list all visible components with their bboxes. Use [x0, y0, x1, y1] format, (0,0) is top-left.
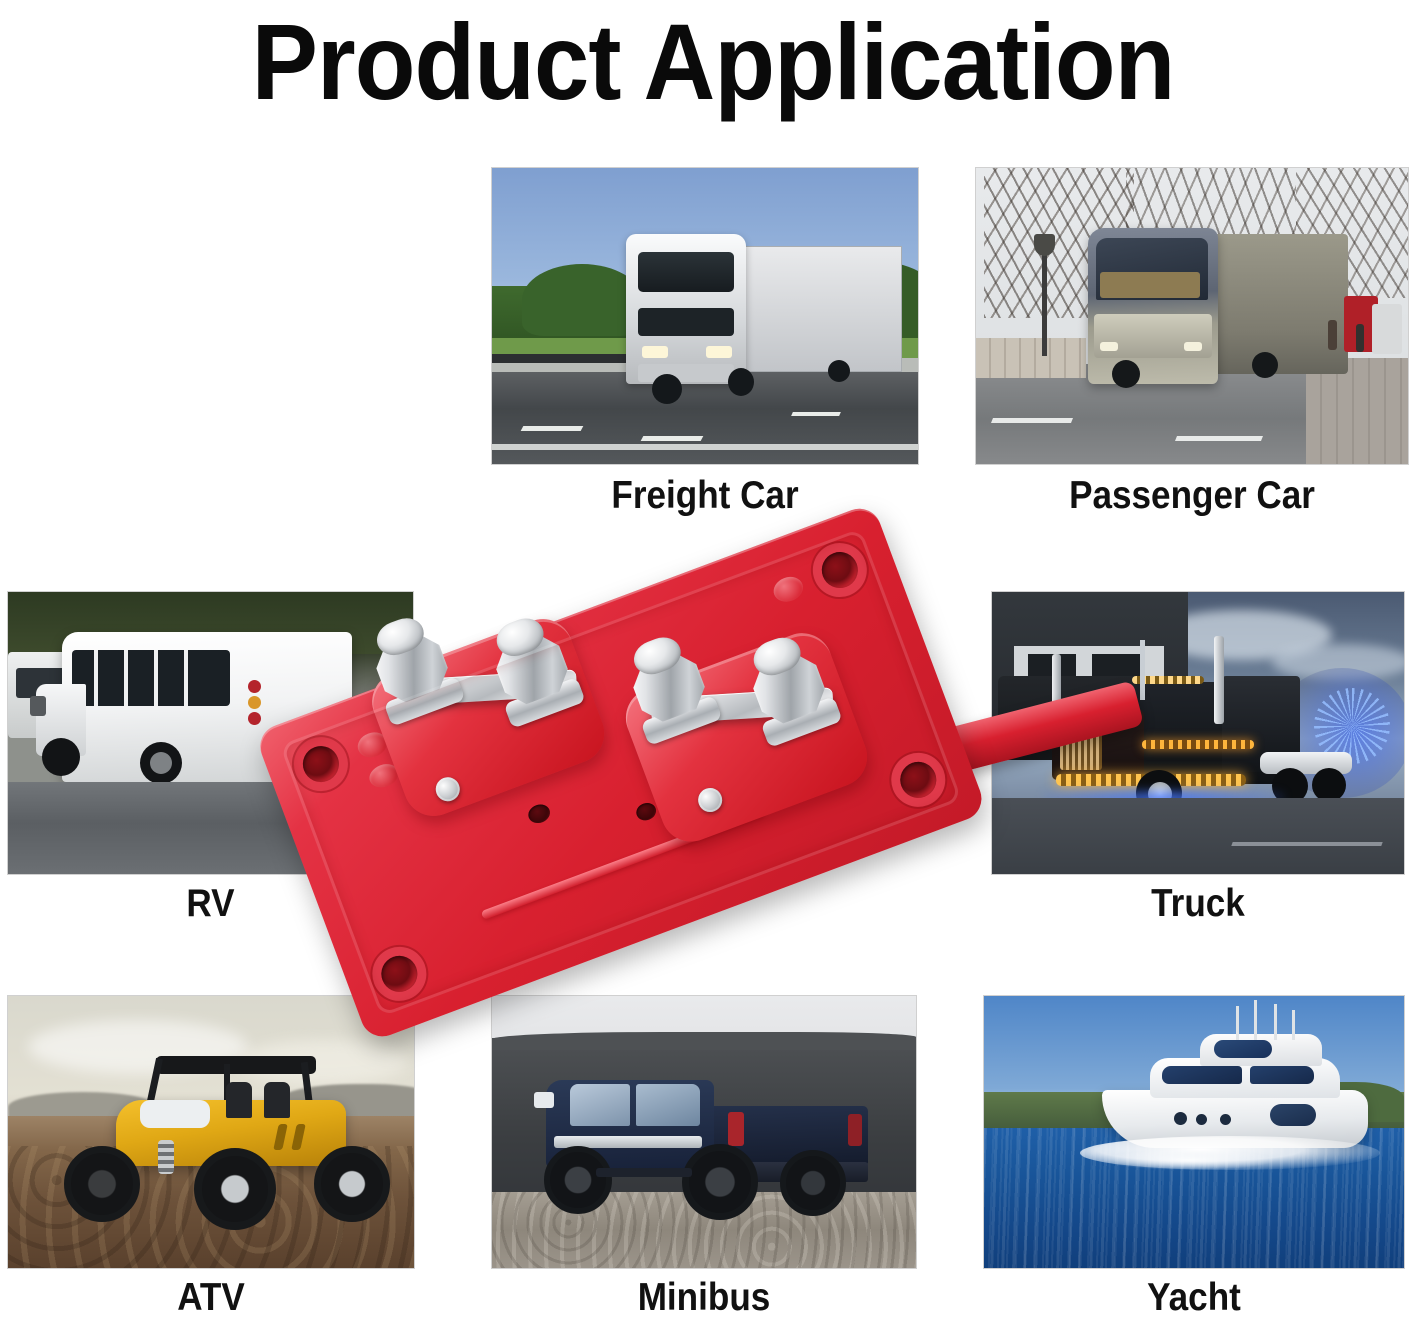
page-title: Product Application: [57, 4, 1369, 121]
vent-hole: [427, 760, 451, 782]
retaining-screw: [695, 785, 726, 816]
vent-hole: [526, 802, 553, 827]
busbar-link: [651, 687, 834, 724]
truck-photo: [992, 592, 1404, 874]
rv-photo: [8, 592, 413, 874]
application-card-freight-car: Freight Car: [492, 168, 918, 464]
caption-passenger-car: Passenger Car: [998, 474, 1387, 518]
terminal-stud: [735, 627, 843, 748]
mounting-hole: [376, 951, 422, 997]
vent-hole: [681, 728, 703, 748]
application-card-minibus: Minibus: [492, 996, 916, 1268]
product-application-poster: Product Application: [0, 0, 1426, 1320]
caption-yacht: Yacht: [1005, 1276, 1383, 1320]
surface-pad: [770, 573, 807, 606]
yacht-photo: [984, 996, 1404, 1268]
molded-rib: [481, 806, 765, 919]
caption-atv: ATV: [28, 1276, 393, 1320]
caption-truck: Truck: [1013, 882, 1384, 926]
application-card-atv: ATV: [8, 996, 414, 1268]
passenger-car-photo: [976, 168, 1408, 464]
vent-hole: [634, 800, 659, 823]
caption-rv: RV: [28, 882, 393, 926]
retaining-screw: [432, 774, 463, 805]
busbar-link: [398, 669, 577, 706]
caption-minibus: Minibus: [513, 1276, 895, 1320]
caption-freight-car: Freight Car: [513, 474, 896, 518]
application-card-passenger-car: Passenger Car: [976, 168, 1408, 464]
terminal-stud: [478, 608, 586, 729]
terminal-pedestal-b: [617, 625, 875, 851]
mounting-hole: [817, 547, 863, 593]
terminal-stud: [615, 627, 722, 746]
atv-photo: [8, 996, 414, 1268]
mounting-hole: [895, 757, 941, 803]
freight-car-photo: [492, 168, 918, 464]
application-card-yacht: Yacht: [984, 996, 1404, 1268]
application-card-rv: RV: [8, 592, 413, 874]
minibus-photo: [492, 996, 916, 1268]
application-card-truck: Truck: [992, 592, 1404, 874]
